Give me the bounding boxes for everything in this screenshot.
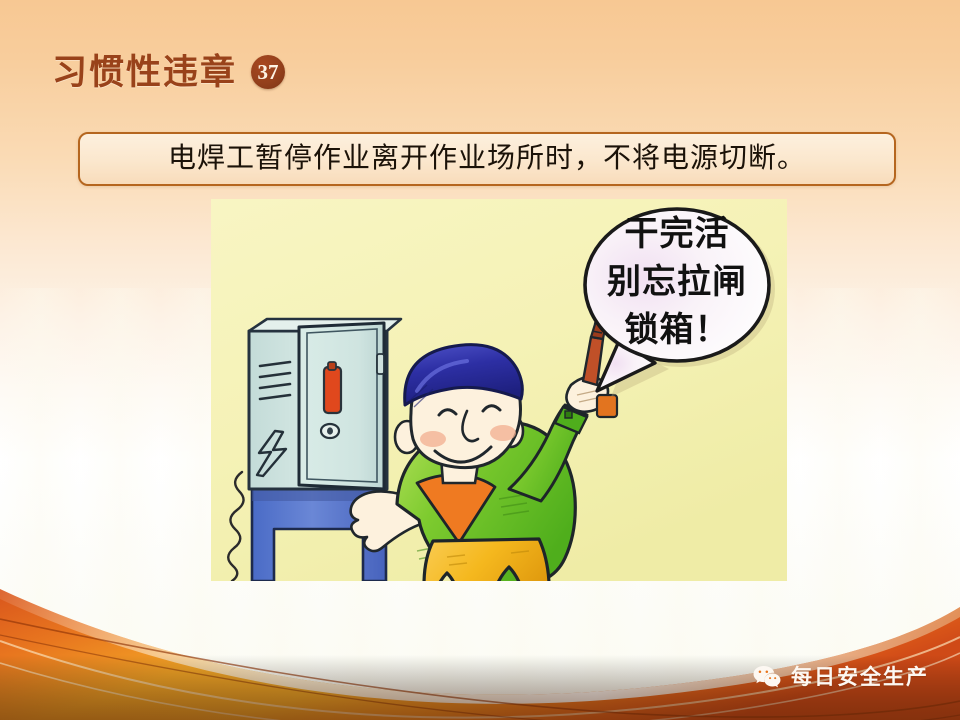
statement-text: 电焊工暂停作业离开作业场所时，不将电源切断。 xyxy=(168,145,806,173)
bubble-line-3: 锁箱！ xyxy=(625,311,730,349)
slide-root: 习惯性违章 37 电焊工暂停作业离开作业场所时，不将电源切断。 xyxy=(0,0,960,720)
page-title-row: 习惯性违章 37 xyxy=(52,48,285,96)
wechat-icon xyxy=(752,664,782,690)
indicator-light xyxy=(324,367,341,413)
illustration-artwork: 干完活 别忘拉闸 锁箱！ xyxy=(211,199,787,581)
wechat-watermark: 每日安全生产 xyxy=(752,662,929,692)
watermark-text: 每日安全生产 xyxy=(791,667,929,688)
bottom-wave-decoration xyxy=(0,545,960,720)
illustration-panel: 干完活 别忘拉闸 锁箱！ xyxy=(211,199,787,581)
cheek-left xyxy=(420,431,446,447)
page-title: 习惯性违章 xyxy=(52,55,237,90)
statement-banner: 电焊工暂停作业离开作业场所时，不将电源切断。 xyxy=(78,132,896,186)
page-number-badge: 37 xyxy=(251,55,285,89)
bubble-line-2: 别忘拉闸 xyxy=(607,263,747,301)
hanging-tag xyxy=(597,395,617,417)
cheek-right xyxy=(490,425,516,441)
bubble-line-1: 干完活 xyxy=(625,214,730,253)
